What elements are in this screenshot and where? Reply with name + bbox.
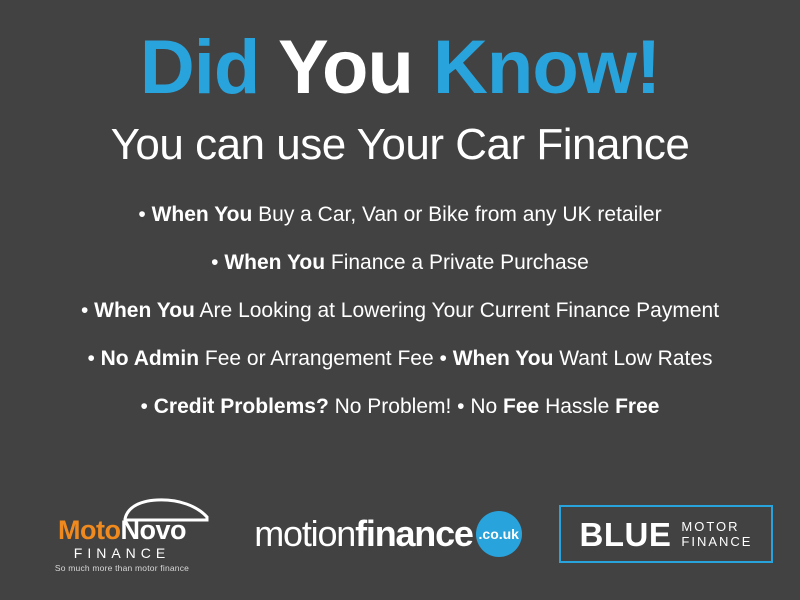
list-item-emphasis-2: When You — [447, 347, 554, 370]
motonovo-wordmark: MotoNovo — [27, 517, 217, 544]
bullet-icon: • — [81, 299, 88, 322]
lender-logo-row: MotoNovo FINANCE So much more than motor… — [0, 494, 800, 574]
benefits-list: • When You Buy a Car, Van or Bike from a… — [0, 204, 800, 444]
list-item-text: No Problem! — [329, 395, 457, 418]
list-item-text: Buy a Car, Van or Bike from any UK retai… — [252, 203, 661, 226]
bullet-icon-secondary: • — [440, 347, 447, 370]
motonovo-moto: Moto — [58, 515, 120, 545]
bullet-icon: • — [87, 347, 94, 370]
list-item: • When You Buy a Car, Van or Bike from a… — [138, 204, 661, 225]
motionfinance-motion: motion — [254, 513, 355, 554]
headline-part-3: Know! — [433, 25, 660, 110]
list-item: • No Admin Fee or Arrangement Fee • When… — [87, 348, 712, 369]
list-item-emphasis: Credit Problems? — [154, 395, 329, 418]
list-item-text: Fee or Arrangement Fee — [199, 347, 439, 370]
motionfinance-finance: finance — [355, 513, 473, 554]
list-item-emphasis: When You — [94, 299, 195, 322]
motionfinance-domain-badge: .co.uk — [476, 511, 522, 557]
list-item-emphasis: No Admin — [101, 347, 199, 370]
subheadline: You can use Your Car Finance — [111, 120, 690, 170]
headline-part-1: Did — [140, 25, 259, 110]
list-item-text: Finance a Private Purchase — [325, 251, 589, 274]
motonovo-finance-word: FINANCE — [27, 545, 217, 561]
bullet-icon: • — [138, 203, 145, 226]
headline: Did You Know! — [140, 30, 660, 106]
motonovo-tagline: So much more than motor finance — [27, 563, 217, 573]
blue-motor-word: MOTOR — [681, 519, 752, 534]
blue-finance-word: FINANCE — [681, 534, 752, 549]
motionfinance-wordmark: motionfinance — [254, 516, 473, 552]
headline-part-2: You — [278, 25, 413, 110]
list-item-emphasis: When You — [224, 251, 325, 274]
bullet-icon: • — [141, 395, 148, 418]
motionfinance-logo: motionfinance .co.uk — [243, 510, 533, 558]
list-item-text-3: No — [465, 395, 504, 418]
list-item-emphasis-4: Free — [615, 395, 659, 418]
promo-poster: Did You Know! You can use Your Car Finan… — [0, 0, 800, 600]
list-item-emphasis-3: Fee — [503, 395, 539, 418]
list-item-emphasis: When You — [152, 203, 253, 226]
blue-motor-finance-logo: BLUE MOTOR FINANCE — [559, 505, 773, 563]
list-item: • When You Finance a Private Purchase — [211, 252, 589, 273]
bullet-icon-secondary: • — [457, 395, 464, 418]
bullet-icon: • — [211, 251, 218, 274]
motonovo-finance-logo: MotoNovo FINANCE So much more than motor… — [27, 495, 217, 573]
list-item: • When You Are Looking at Lowering Your … — [81, 300, 719, 321]
blue-word: BLUE — [580, 518, 672, 551]
list-item-text: Are Looking at Lowering Your Current Fin… — [195, 299, 719, 322]
list-item: • Credit Problems? No Problem! • No Fee … — [141, 396, 660, 417]
motonovo-novo: Novo — [120, 515, 186, 545]
list-item-text-2: Want Low Rates — [553, 347, 712, 370]
blue-motor-finance-stack: MOTOR FINANCE — [681, 519, 752, 550]
list-item-text-4: Hassle — [539, 395, 615, 418]
